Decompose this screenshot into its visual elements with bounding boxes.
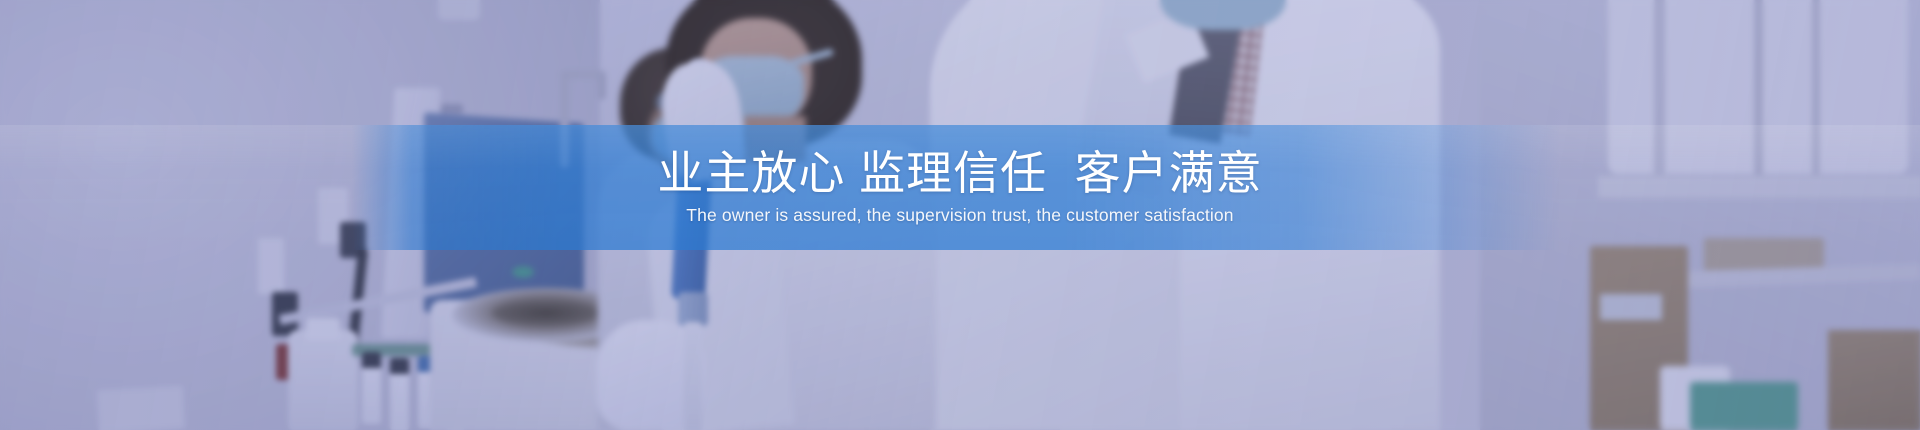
faucet-tip: [598, 74, 606, 100]
banner-headline: 业主放心 监理信任 客户满意: [657, 149, 1262, 198]
sample-cap-teal: [512, 266, 534, 278]
monitor-hinge: [441, 104, 463, 114]
sample-vial: [390, 358, 409, 430]
pipette-tip: [684, 322, 702, 430]
hero-banner: 业主放心 监理信任 客户满意 The owner is assured, the…: [0, 0, 1920, 430]
cardboard-box: [1828, 330, 1920, 430]
centrifuge-rotor: [492, 300, 600, 326]
banner-subheadline: The owner is assured, the supervision tr…: [686, 205, 1233, 226]
teal-container: [1690, 382, 1798, 430]
bottle-cap: [306, 318, 340, 340]
water-bottle: [288, 330, 358, 430]
banner-text-block: 业主放心 监理信任 客户满意 The owner is assured, the…: [0, 125, 1920, 250]
pipette-collar: [678, 292, 708, 326]
wall-box: [97, 386, 185, 430]
sample-vial: [362, 352, 381, 424]
ceiling-vent: [438, 0, 480, 20]
box-label: [1600, 294, 1662, 320]
